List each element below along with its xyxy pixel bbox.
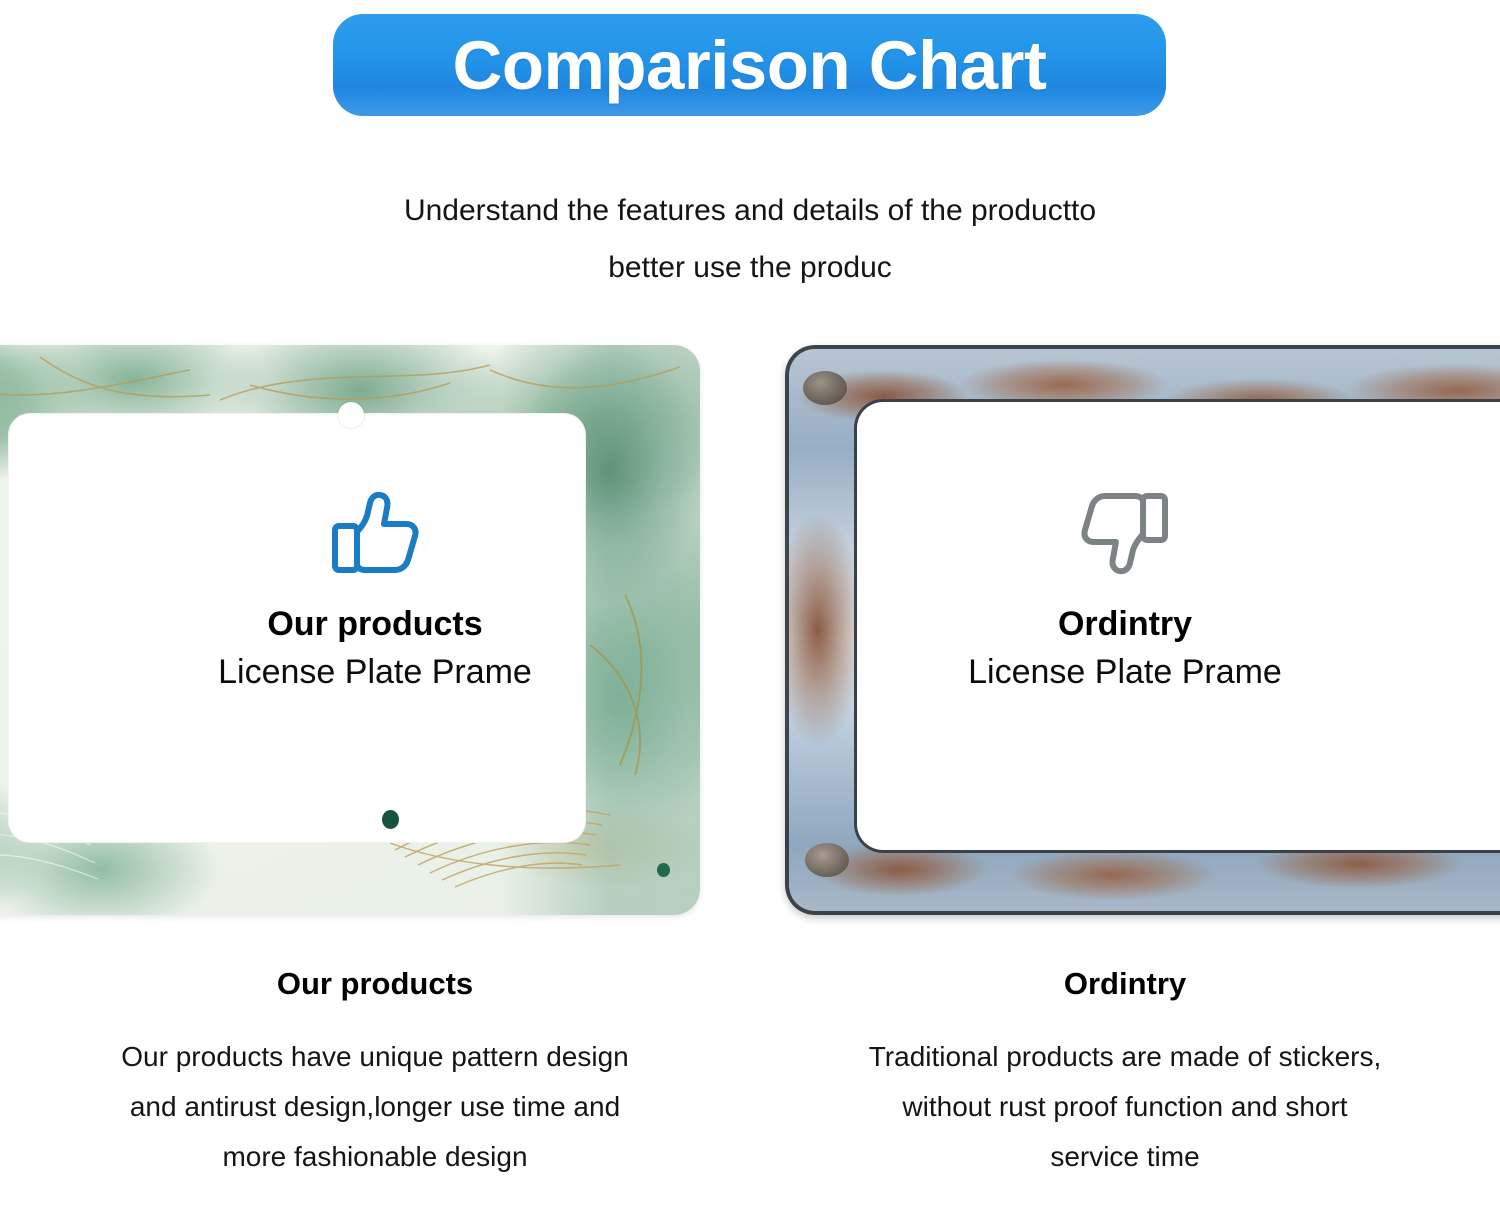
ordinary-product-description-column: Ordintry Traditional products are made o… xyxy=(750,965,1500,1223)
ordinary-product-description-line-3: service time xyxy=(750,1132,1500,1182)
ordinary-product-bottom-heading: Ordintry xyxy=(750,965,1500,1002)
screw-hole-top-left-frame xyxy=(338,402,364,428)
our-product-description-column: Our products Our products have unique pa… xyxy=(0,965,750,1223)
our-product-description: Our products have unique pattern design … xyxy=(0,1032,750,1182)
license-plate-window-right xyxy=(857,402,1500,850)
subtitle: Understand the features and details of t… xyxy=(0,182,1500,296)
subtitle-line-2: better use the produc xyxy=(0,239,1500,296)
our-product-description-line-2: and antirust design,longer use time and xyxy=(0,1082,750,1132)
screw-head-top-right-frame xyxy=(803,371,847,405)
our-product-bottom-heading: Our products xyxy=(0,965,750,1002)
screw-hole-bottom-right-left-frame xyxy=(657,863,670,877)
screw-head-bottom-right-frame xyxy=(805,843,849,877)
license-plate-window-left xyxy=(8,413,586,843)
our-product-image xyxy=(0,345,700,915)
ordinary-product-description-line-2: without rust proof function and short xyxy=(750,1082,1500,1132)
ordinary-product-description: Traditional products are made of sticker… xyxy=(750,1032,1500,1182)
page-title: Comparison Chart xyxy=(453,31,1047,100)
subtitle-line-1: Understand the features and details of t… xyxy=(0,182,1500,239)
screw-hole-bottom-left-frame xyxy=(382,810,399,829)
our-product-description-line-1: Our products have unique pattern design xyxy=(0,1032,750,1082)
product-image-band: Our products License Plate Prame Ordintr… xyxy=(0,340,1500,925)
comparison-chart-page: Comparison Chart Understand the features… xyxy=(0,0,1500,1223)
our-product-description-line-3: more fashionable design xyxy=(0,1132,750,1182)
comparison-descriptions: Our products Our products have unique pa… xyxy=(0,965,1500,1223)
ordinary-product-description-line-1: Traditional products are made of sticker… xyxy=(750,1032,1500,1082)
ordinary-product-image xyxy=(785,345,1500,915)
title-banner: Comparison Chart xyxy=(333,14,1166,116)
